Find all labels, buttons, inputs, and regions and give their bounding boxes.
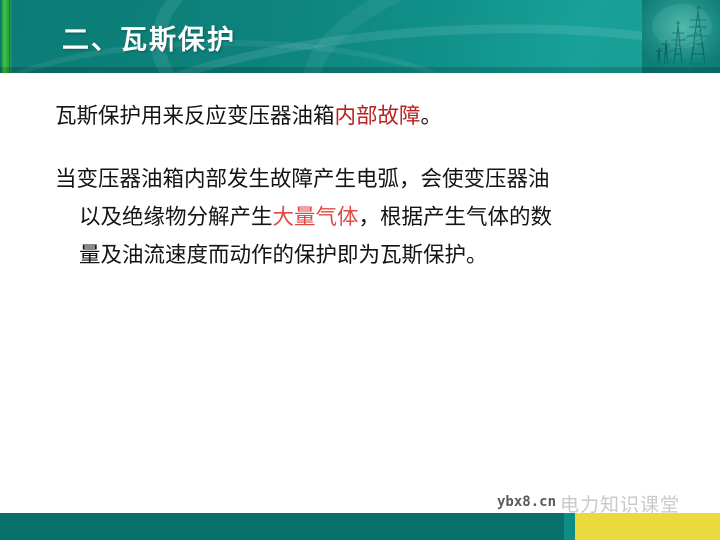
paragraph-2-line-2: 以及绝缘物分解产生大量气体，根据产生气体的数 xyxy=(55,199,677,237)
slide-body: 瓦斯保护用来反应变压器油箱内部故障。 当变压器油箱内部发生故障产生电弧，会使变压… xyxy=(0,73,720,513)
footer-yellow-bar xyxy=(575,513,720,540)
transmission-tower-photo xyxy=(642,0,720,73)
footer-teal-highlight xyxy=(564,513,575,540)
slide: 二、瓦斯保护 瓦斯保护用来反应变压器油箱内部故障。 当变压器油箱内部发生故障产生… xyxy=(0,0,720,540)
brand-watermark: 电力知识课堂 xyxy=(560,490,680,517)
paragraph-2-line-3: 量及油流速度而动作的保护即为瓦斯保护。 xyxy=(55,237,677,275)
paragraph-2-line-1: 当变压器油箱内部发生故障产生电弧，会使变压器油 xyxy=(55,167,550,192)
paragraph-1-emphasis-red: 内部故障 xyxy=(335,104,421,129)
paragraph-2-line-2-after: ，根据产生气体的数 xyxy=(359,205,553,230)
site-watermark: ybx8.cn xyxy=(497,494,556,510)
footer-teal-bar xyxy=(0,513,575,540)
slide-header-banner: 二、瓦斯保护 xyxy=(0,0,720,73)
slide-footer xyxy=(0,513,720,540)
accent-green-stripe xyxy=(2,0,9,73)
paragraph-2: 当变压器油箱内部发生故障产生电弧，会使变压器油以及绝缘物分解产生大量气体，根据产… xyxy=(55,161,677,275)
paragraph-1-text-before: 瓦斯保护用来反应变压器油箱 xyxy=(55,104,335,129)
paragraph-2-line-2-before: 以及绝缘物分解产生 xyxy=(79,205,273,230)
paragraph-2-emphasis-red: 大量气体 xyxy=(273,205,359,230)
accent-green-stripe-secondary xyxy=(10,0,12,73)
paragraph-1-text-after: 。 xyxy=(421,104,443,129)
paragraph-1: 瓦斯保护用来反应变压器油箱内部故障。 xyxy=(55,98,695,136)
page-title: 二、瓦斯保护 xyxy=(62,18,236,57)
